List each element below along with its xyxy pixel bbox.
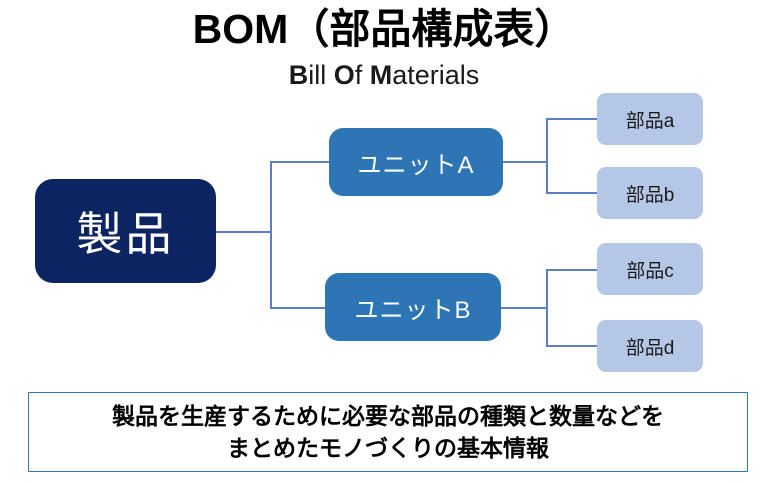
connector-branch-to-part-c: [546, 269, 597, 271]
node-unit-a-label: ユニットA: [357, 145, 474, 180]
node-unit-b-label: ユニットB: [354, 290, 471, 325]
connector-unit-b-to-branch: [500, 307, 548, 309]
caption-line-1: 製品を生産するために必要な部品の種類と数量などを: [112, 400, 664, 432]
subtitle-part-m: M: [370, 60, 393, 90]
node-product-label: 製品: [77, 198, 175, 264]
subtitle-part-b: B: [289, 60, 309, 90]
connector-product-to-trunk: [215, 231, 272, 233]
connector-unit-a-to-branch: [502, 161, 548, 163]
node-part-d[interactable]: 部品d: [597, 320, 703, 372]
node-part-a-label: 部品a: [626, 106, 675, 133]
node-part-c-label: 部品c: [626, 256, 674, 283]
node-product[interactable]: 製品: [35, 179, 216, 283]
subtitle-part-f: f: [355, 60, 370, 90]
subtitle-part-o: O: [334, 60, 355, 90]
connector-branch-b-vertical: [546, 269, 548, 346]
caption-line-2: まとめたモノづくりの基本情報: [227, 432, 549, 464]
node-unit-b[interactable]: ユニットB: [325, 273, 501, 341]
connector-branch-to-part-b: [546, 192, 597, 194]
node-part-b-label: 部品b: [626, 180, 675, 207]
caption-box: 製品を生産するために必要な部品の種類と数量などを まとめたモノづくりの基本情報: [28, 392, 748, 472]
page-subtitle: Bill Of Materials: [0, 58, 768, 92]
connector-trunk-to-unit-a: [270, 161, 330, 163]
node-unit-a[interactable]: ユニットA: [329, 128, 503, 196]
connector-trunk-vertical: [270, 161, 272, 309]
connector-trunk-to-unit-b: [270, 307, 328, 309]
subtitle-part-ill: ill: [308, 60, 334, 90]
node-part-c[interactable]: 部品c: [597, 243, 703, 295]
subtitle-part-aterials: aterials: [392, 60, 479, 90]
page-title: BOM（部品構成表）: [0, 4, 768, 54]
bom-diagram-slide: BOM（部品構成表） Bill Of Materials 製品 ユニットA ユニ…: [0, 0, 768, 484]
node-part-d-label: 部品d: [626, 333, 675, 360]
node-part-b[interactable]: 部品b: [597, 167, 703, 219]
connector-branch-a-vertical: [546, 118, 548, 194]
connector-branch-to-part-a: [546, 118, 597, 120]
connector-branch-to-part-d: [546, 345, 597, 347]
node-part-a[interactable]: 部品a: [597, 93, 703, 145]
